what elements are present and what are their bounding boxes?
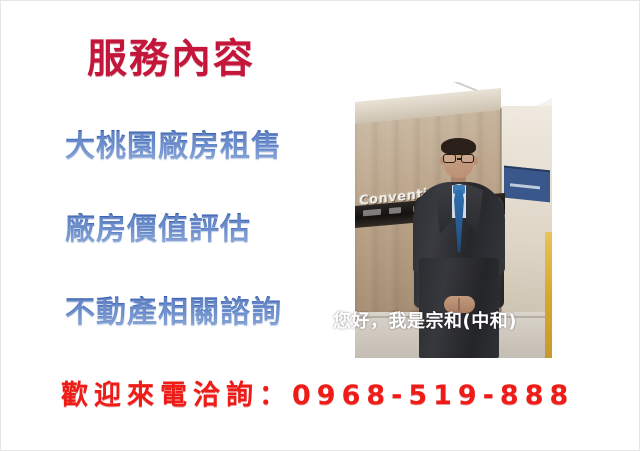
glasses-lens-left <box>443 154 456 163</box>
photo-band-highlight-2 <box>389 207 401 214</box>
page-title: 服務內容 <box>87 37 255 81</box>
glasses-icon <box>442 154 475 163</box>
glasses-lens-right <box>461 154 474 163</box>
slide-canvas: 服務內容 大桃園廠房租售 廠房價值評估 不動產相關諮詢 Convention C… <box>0 0 640 451</box>
photo-caption: 您好，我是宗和(中和) <box>333 307 517 333</box>
person-hair <box>441 138 476 155</box>
service-item-1: 大桃園廠房租售 <box>65 130 282 163</box>
photo-blue-wall-sign <box>504 166 550 203</box>
service-item-3: 不動產相關諮詢 <box>65 296 282 329</box>
glasses-bridge <box>457 158 461 160</box>
photo-band-highlight-1 <box>363 209 381 217</box>
contact-phone-line: 歡迎來電洽詢：0968-519-888 <box>61 373 574 412</box>
service-item-2: 廠房價值評估 <box>65 213 251 246</box>
photo-accent-strip <box>545 232 552 358</box>
